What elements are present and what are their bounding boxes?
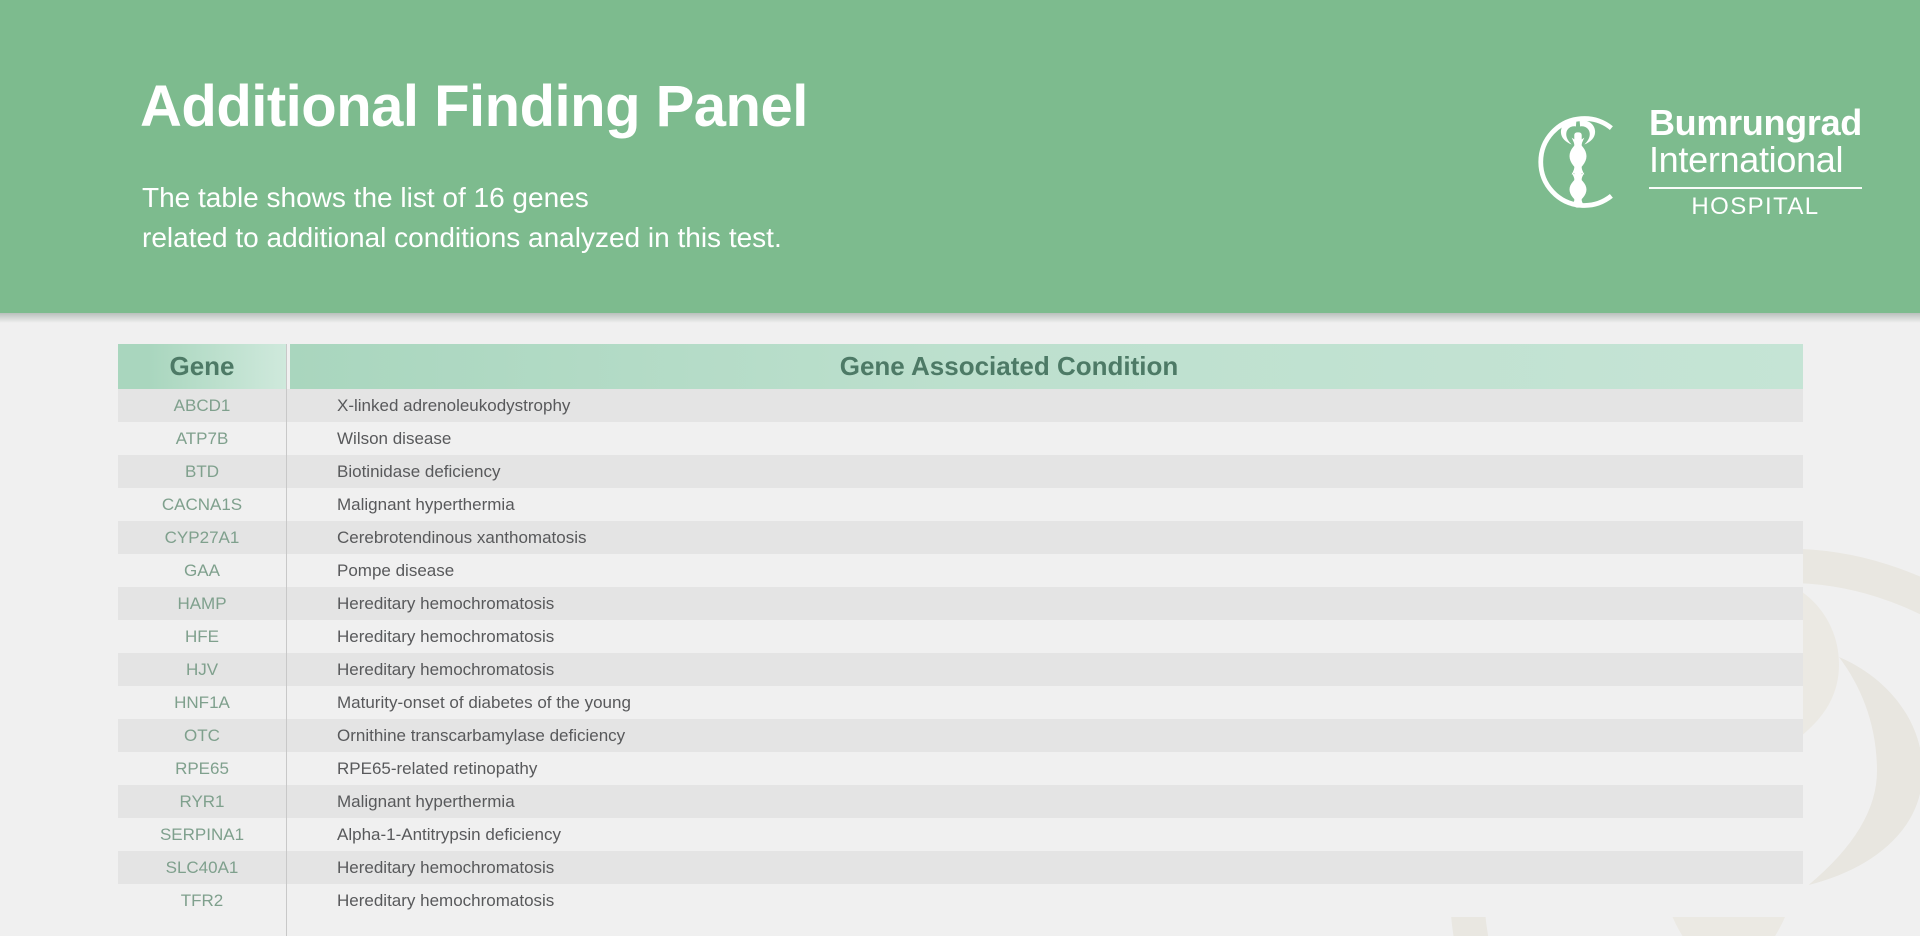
column-header-gene: Gene [118, 344, 286, 389]
cell-gene: CYP27A1 [118, 528, 286, 548]
cell-condition: Cerebrotendinous xanthomatosis [286, 528, 1803, 548]
cell-condition: Alpha-1-Antitrypsin deficiency [286, 825, 1803, 845]
cell-gene: RYR1 [118, 792, 286, 812]
cell-gene: CACNA1S [118, 495, 286, 515]
table-body: ABCD1X-linked adrenoleukodystrophyATP7BW… [118, 389, 1803, 917]
table-row: HNF1AMaturity-onset of diabetes of the y… [118, 686, 1803, 719]
table-row: HAMPHereditary hemochromatosis [118, 587, 1803, 620]
cell-condition: Malignant hyperthermia [286, 495, 1803, 515]
logo-divider [1649, 187, 1862, 189]
logo-brand-type: HOSPITAL [1649, 193, 1862, 221]
table-row: HFEHereditary hemochromatosis [118, 620, 1803, 653]
table-row: ATP7BWilson disease [118, 422, 1803, 455]
cell-gene: HNF1A [118, 693, 286, 713]
column-header-condition: Gene Associated Condition [290, 344, 1803, 389]
cell-condition: Wilson disease [286, 429, 1803, 449]
cell-condition: Pompe disease [286, 561, 1803, 581]
cell-condition: RPE65-related retinopathy [286, 759, 1803, 779]
cell-gene: RPE65 [118, 759, 286, 779]
cell-gene: BTD [118, 462, 286, 482]
cell-condition: Hereditary hemochromatosis [286, 627, 1803, 647]
cell-gene: ATP7B [118, 429, 286, 449]
cell-gene: GAA [118, 561, 286, 581]
cell-condition: Biotinidase deficiency [286, 462, 1803, 482]
logo-brand-name: Bumrungrad [1649, 104, 1862, 141]
page-title: Additional Finding Panel [140, 78, 808, 136]
cell-condition: Hereditary hemochromatosis [286, 594, 1803, 614]
table-row: HJVHereditary hemochromatosis [118, 653, 1803, 686]
hospital-logo: Bumrungrad International HOSPITAL [1525, 104, 1862, 221]
cell-gene: ABCD1 [118, 396, 286, 416]
cell-condition: X-linked adrenoleukodystrophy [286, 396, 1803, 416]
table-row: SLC40A1Hereditary hemochromatosis [118, 851, 1803, 884]
cell-gene: TFR2 [118, 891, 286, 911]
page-subtitle: The table shows the list of 16 genes rel… [142, 178, 782, 258]
cell-condition: Ornithine transcarbamylase deficiency [286, 726, 1803, 746]
table-row: OTCOrnithine transcarbamylase deficiency [118, 719, 1803, 752]
table-header-row: Gene Gene Associated Condition [118, 344, 1803, 389]
cell-condition: Maturity-onset of diabetes of the young [286, 693, 1803, 713]
table-row: CYP27A1Cerebrotendinous xanthomatosis [118, 521, 1803, 554]
page-header: Additional Finding Panel The table shows… [0, 0, 1920, 313]
table-row: TFR2Hereditary hemochromatosis [118, 884, 1803, 917]
table-row: RPE65RPE65-related retinopathy [118, 752, 1803, 785]
cell-gene: HFE [118, 627, 286, 647]
cell-condition: Hereditary hemochromatosis [286, 891, 1803, 911]
table-row: RYR1Malignant hyperthermia [118, 785, 1803, 818]
table-row: CACNA1SMalignant hyperthermia [118, 488, 1803, 521]
table-row: ABCD1X-linked adrenoleukodystrophy [118, 389, 1803, 422]
header-shadow [0, 313, 1920, 323]
cell-gene: SERPINA1 [118, 825, 286, 845]
logo-brand-qualifier: International [1649, 141, 1862, 179]
cell-condition: Hereditary hemochromatosis [286, 660, 1803, 680]
cell-gene: OTC [118, 726, 286, 746]
cell-gene: HJV [118, 660, 286, 680]
cell-gene: HAMP [118, 594, 286, 614]
gene-panel-table: Gene Gene Associated Condition ABCD1X-li… [118, 344, 1803, 917]
table-row: BTDBiotinidase deficiency [118, 455, 1803, 488]
table-row: SERPINA1Alpha-1-Antitrypsin deficiency [118, 818, 1803, 851]
report-page: Additional Finding Panel The table shows… [0, 0, 1920, 936]
cell-condition: Malignant hyperthermia [286, 792, 1803, 812]
table-row: GAAPompe disease [118, 554, 1803, 587]
cell-condition: Hereditary hemochromatosis [286, 858, 1803, 878]
cell-gene: SLC40A1 [118, 858, 286, 878]
caduceus-icon [1525, 109, 1631, 215]
